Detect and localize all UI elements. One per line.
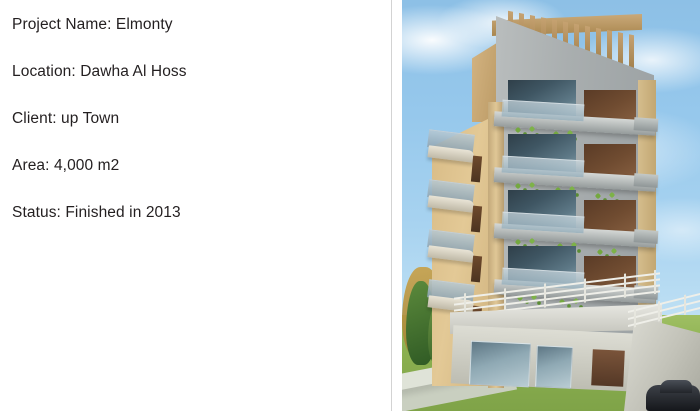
project-render-image — [402, 0, 700, 411]
project-info-list: Project Name: Elmonty Location: Dawha Al… — [12, 14, 392, 249]
edge-band-5 — [634, 117, 659, 132]
edge-band-4 — [634, 173, 659, 188]
ground-floor-glazing-2 — [535, 345, 573, 389]
info-row-status: Status: Finished in 2013 — [12, 202, 392, 249]
edge-band-3 — [634, 229, 659, 244]
ground-floor-panel — [591, 349, 625, 386]
info-row-location: Location: Dawha Al Hoss — [12, 61, 392, 108]
parked-car-cabin — [660, 380, 692, 393]
info-row-area: Area: 4,000 m2 — [12, 155, 392, 202]
project-image-panel — [392, 0, 700, 411]
project-detail-page: Project Name: Elmonty Location: Dawha Al… — [0, 0, 700, 411]
project-info-panel: Project Name: Elmonty Location: Dawha Al… — [0, 0, 392, 411]
info-row-client: Client: up Town — [12, 108, 392, 155]
info-row-project-name: Project Name: Elmonty — [12, 14, 392, 61]
ground-floor-glazing-1 — [469, 341, 531, 388]
apartment-building — [432, 6, 654, 386]
